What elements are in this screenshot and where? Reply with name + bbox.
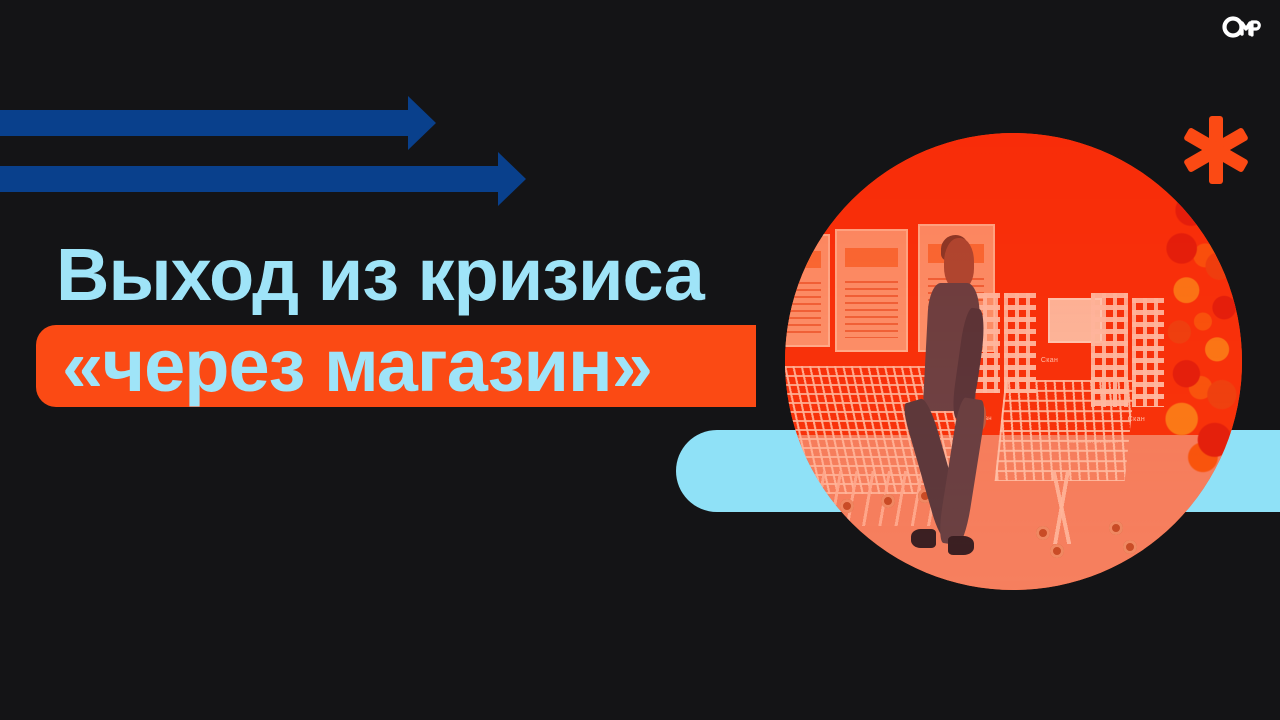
kiosk-brand-label: Скан	[1041, 357, 1058, 364]
balloon-arch	[1151, 151, 1242, 498]
arrow-shaft	[0, 166, 500, 192]
figure-head	[944, 238, 974, 289]
arrow-head-icon	[408, 96, 436, 150]
wall-poster	[835, 229, 908, 352]
headline-line-1: Выход из кризиса	[0, 238, 770, 312]
wall-poster	[785, 234, 830, 348]
figure-shoe-front	[948, 536, 974, 555]
photo-circle: Скан Скан Скан самообслуживания	[785, 133, 1242, 590]
cart-wheel	[1123, 540, 1137, 554]
trolley-wheel	[840, 499, 854, 513]
arrow-shaft	[0, 110, 410, 136]
figure-shoe-back	[911, 529, 935, 548]
omp-logo	[1222, 14, 1262, 40]
slide-canvas: Скан Скан Скан самообслуживания	[0, 0, 1280, 720]
cart-copy-label: самообслуживания	[1068, 439, 1118, 445]
headline-block: Выход из кризиса «через магазин»	[0, 238, 770, 312]
shopper-figure	[918, 238, 1019, 558]
foreground-cart-frame	[1004, 471, 1123, 544]
arrow-head-icon	[498, 152, 526, 206]
store-scene: Скан Скан Скан самообслуживания	[785, 133, 1242, 590]
orange-asterisk-icon	[1181, 114, 1251, 186]
trolley-wheel	[881, 494, 895, 508]
headline-line-2: «через магазин»	[62, 332, 652, 400]
